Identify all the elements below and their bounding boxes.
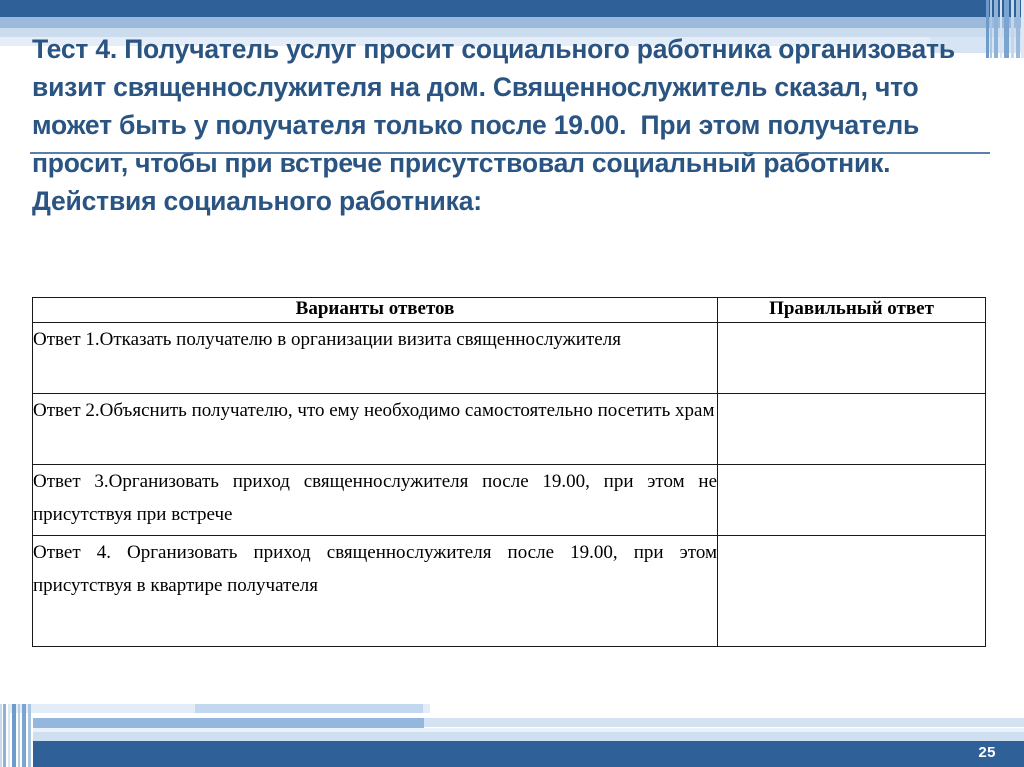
bottom-band-dark xyxy=(33,741,1024,767)
correct-answer-cell-1[interactable] xyxy=(718,323,986,394)
column-header-variants: Варианты ответов xyxy=(33,298,718,323)
correct-answer-cell-4[interactable] xyxy=(718,536,986,647)
top-band-mid xyxy=(0,17,1024,28)
table-row[interactable]: Ответ 4. Организовать приход священнослу… xyxy=(33,536,986,647)
answer-option-3[interactable]: Ответ 3.Организовать приход священнослуж… xyxy=(33,465,718,536)
correct-answer-cell-3[interactable] xyxy=(718,465,986,536)
answers-table: Варианты ответов Правильный ответ Ответ … xyxy=(32,297,986,647)
bottom-decoration-bar: 25 xyxy=(0,690,1024,767)
answer-option-1[interactable]: Ответ 1.Отказать получателю в организаци… xyxy=(33,323,718,394)
table-row[interactable]: Ответ 2.Объяснить получателю, что ему не… xyxy=(33,394,986,465)
table-row[interactable]: Ответ 1.Отказать получателю в организаци… xyxy=(33,323,986,394)
table-header-row: Варианты ответов Правильный ответ xyxy=(33,298,986,323)
top-right-stripes xyxy=(986,0,1024,60)
bottom-pale-right-strip xyxy=(424,718,1024,727)
title-underline-rule xyxy=(30,152,990,154)
bottom-band-light xyxy=(33,732,1024,741)
bottom-left-stripes xyxy=(0,704,34,767)
slide-title-block: Тест 4. Получатель услуг просит социальн… xyxy=(32,30,972,220)
column-header-correct: Правильный ответ xyxy=(718,298,986,323)
answer-option-4[interactable]: Ответ 4. Организовать приход священнослу… xyxy=(33,536,718,647)
top-band-dark xyxy=(0,0,1024,17)
table-row[interactable]: Ответ 3.Организовать приход священнослуж… xyxy=(33,465,986,536)
page-title: Тест 4. Получатель услуг просит социальн… xyxy=(32,30,972,220)
correct-answer-cell-2[interactable] xyxy=(718,394,986,465)
page-number: 25 xyxy=(978,744,996,761)
answer-option-2[interactable]: Ответ 2.Объяснить получателю, что ему не… xyxy=(33,394,718,465)
